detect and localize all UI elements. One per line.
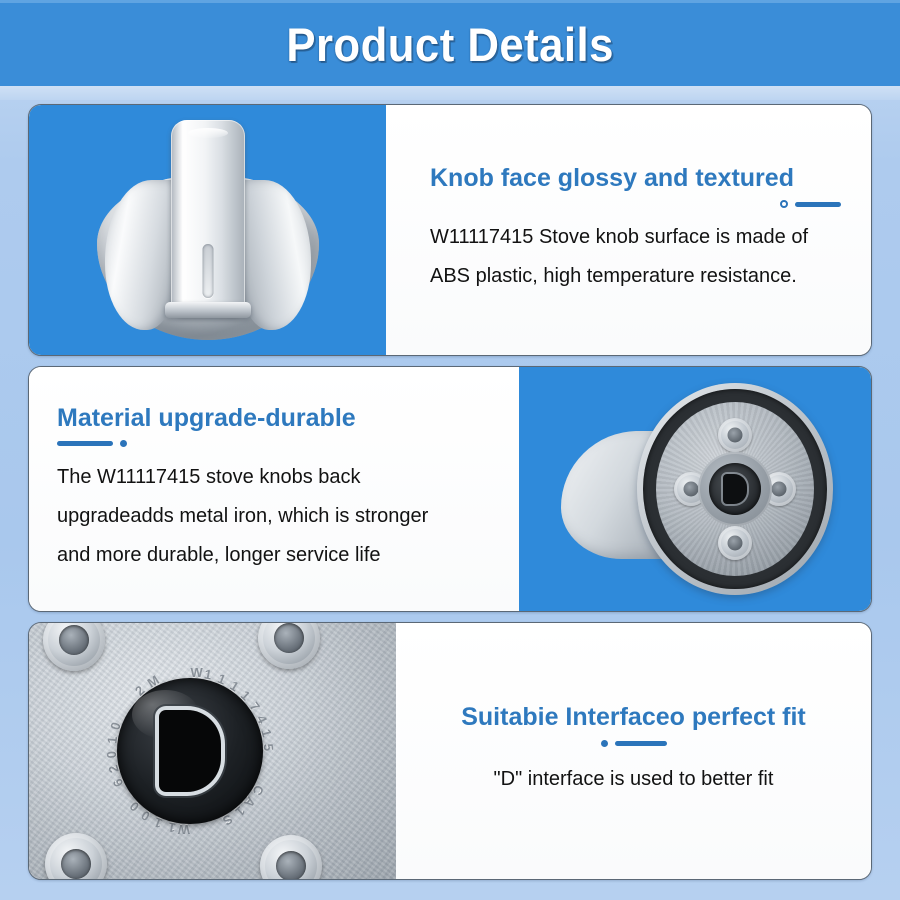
product-details-page: Product Details Knob face glossy and tex… — [0, 0, 900, 900]
heading-accent — [601, 738, 667, 748]
card-body-text: "D" interface is used to better fit — [494, 760, 774, 799]
knob-slot-indicator — [202, 244, 213, 298]
feature-text-material-upgrade: Material upgrade-durable The W11117415 s… — [29, 367, 519, 611]
heading-accent — [57, 439, 493, 449]
stove-knob-back-photo — [519, 367, 871, 611]
knob-metal-plate — [656, 402, 814, 576]
card-body-text: W11117415 Stove knob surface is made of … — [430, 218, 841, 296]
d-interface-macro-photo: W11117415 CA1S W1100 62010 2M — [29, 623, 396, 879]
accent-dot-icon — [120, 440, 127, 447]
stove-knob-front-photo — [29, 105, 386, 355]
d-socket-icon — [723, 474, 747, 504]
plate-screw-top — [718, 418, 752, 452]
accent-bar-icon — [615, 741, 667, 746]
metal-plate-macro-texture: W11117415 CA1S W1100 62010 2M — [29, 623, 396, 879]
page-title: Product Details — [286, 17, 614, 72]
card-heading: Suitabie Interfaceo perfect fit — [461, 703, 806, 731]
card-heading: Knob face glossy and textured — [430, 164, 841, 192]
card-heading: Material upgrade-durable — [57, 404, 493, 432]
knob-back-illustration — [557, 375, 833, 603]
header-gloss — [0, 86, 900, 100]
knob-back-ring — [643, 389, 827, 589]
macro-screw-bottom-right — [260, 835, 322, 879]
black-socket-ring — [117, 678, 263, 824]
accent-bar-icon — [795, 202, 841, 207]
knob-ridge-foot — [165, 302, 251, 318]
d-interface-icon — [159, 710, 221, 792]
macro-screw-top-left — [43, 623, 105, 671]
cards-container: Knob face glossy and textured W11117415 … — [0, 104, 900, 880]
feature-text-suitable-interface: Suitabie Interfaceo perfect fit "D" inte… — [396, 623, 871, 879]
page-header: Product Details — [0, 0, 900, 88]
accent-bar-icon — [57, 441, 113, 446]
feature-text-knob-face: Knob face glossy and textured W11117415 … — [386, 105, 871, 355]
macro-screw-top-right — [258, 623, 320, 669]
feature-card-suitable-interface: W11117415 CA1S W1100 62010 2M Suitabie I… — [28, 622, 872, 880]
accent-dot-icon — [780, 200, 788, 208]
knob-back-disc — [637, 383, 833, 595]
accent-dot-icon — [601, 740, 608, 747]
heading-accent — [430, 199, 841, 209]
card-body-text: The W11117415 stove knobs back upgradead… — [57, 458, 449, 575]
feature-card-material-upgrade: Material upgrade-durable The W11117415 s… — [28, 366, 872, 612]
feature-card-knob-face: Knob face glossy and textured W11117415 … — [28, 104, 872, 356]
macro-screw-bottom-left — [45, 833, 107, 879]
knob-front-illustration — [83, 116, 333, 344]
plate-screw-bottom — [718, 526, 752, 560]
